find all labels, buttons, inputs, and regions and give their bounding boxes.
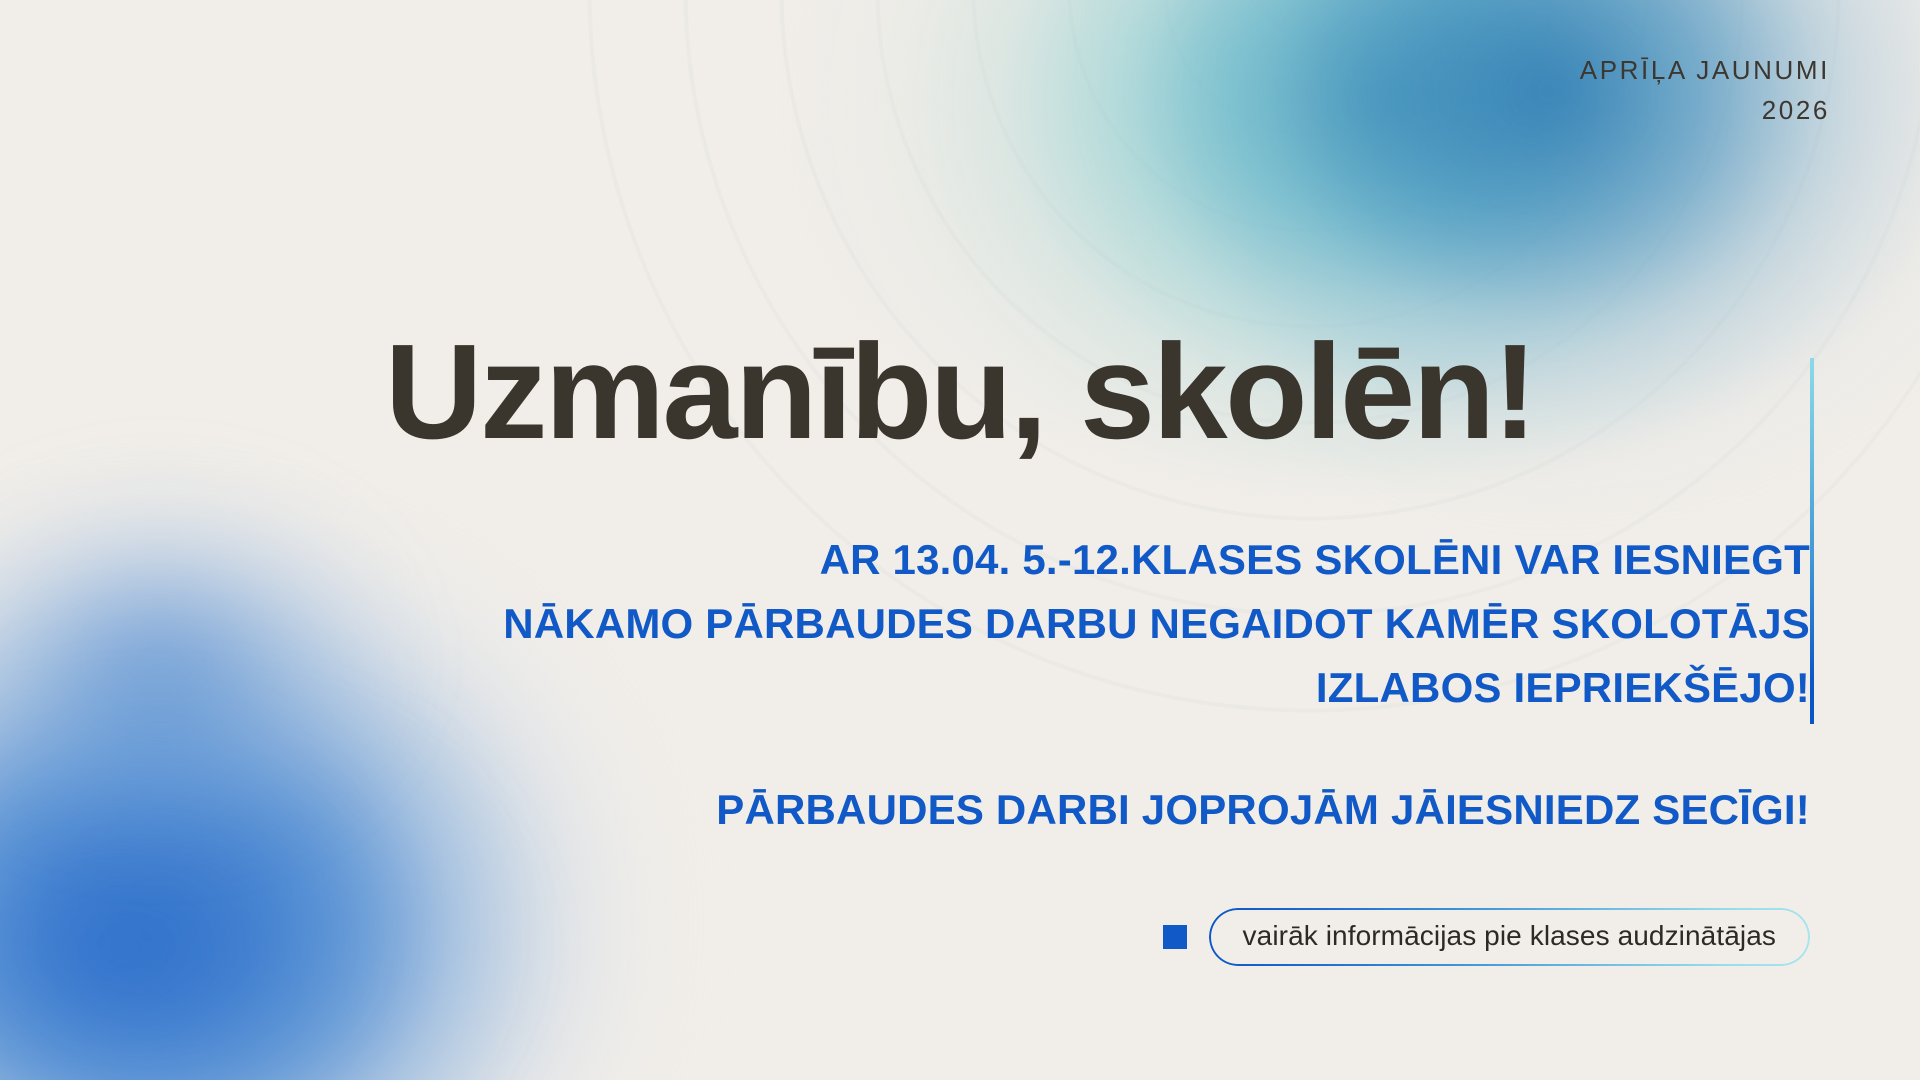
poster-canvas: APRĪĻA JAUNUMI 2026 Uzmanību, skolēn! AR…: [0, 0, 1920, 1080]
vertical-gradient-rule: [1810, 358, 1814, 724]
square-bullet-icon: [1163, 925, 1187, 949]
body-copy-line: IZLABOS IEPRIEKŠĒJO!: [110, 656, 1810, 720]
body-copy-secondary: PĀRBAUDES DARBI JOPROJĀM JĀIESNIEDZ SECĪ…: [110, 778, 1810, 842]
eyebrow-year: 2026: [1580, 90, 1830, 130]
body-copy-line: AR 13.04. 5.-12.KLASES SKOLĒNI VAR IESNI…: [110, 528, 1810, 592]
eyebrow-title: APRĪĻA JAUNUMI: [1580, 55, 1830, 85]
poster-content: APRĪĻA JAUNUMI 2026 Uzmanību, skolēn! AR…: [0, 0, 1920, 1080]
page-title: Uzmanību, skolēn!: [0, 324, 1920, 459]
body-copy-primary: AR 13.04. 5.-12.KLASES SKOLĒNI VAR IESNI…: [110, 528, 1810, 719]
eyebrow: APRĪĻA JAUNUMI 2026: [1580, 50, 1830, 131]
footnote-pill: vairāk informācijas pie klases audzinātā…: [1209, 908, 1810, 966]
body-copy-line: NĀKAMO PĀRBAUDES DARBU NEGAIDOT KAMĒR SK…: [110, 592, 1810, 656]
footnote: vairāk informācijas pie klases audzinātā…: [1163, 908, 1810, 966]
